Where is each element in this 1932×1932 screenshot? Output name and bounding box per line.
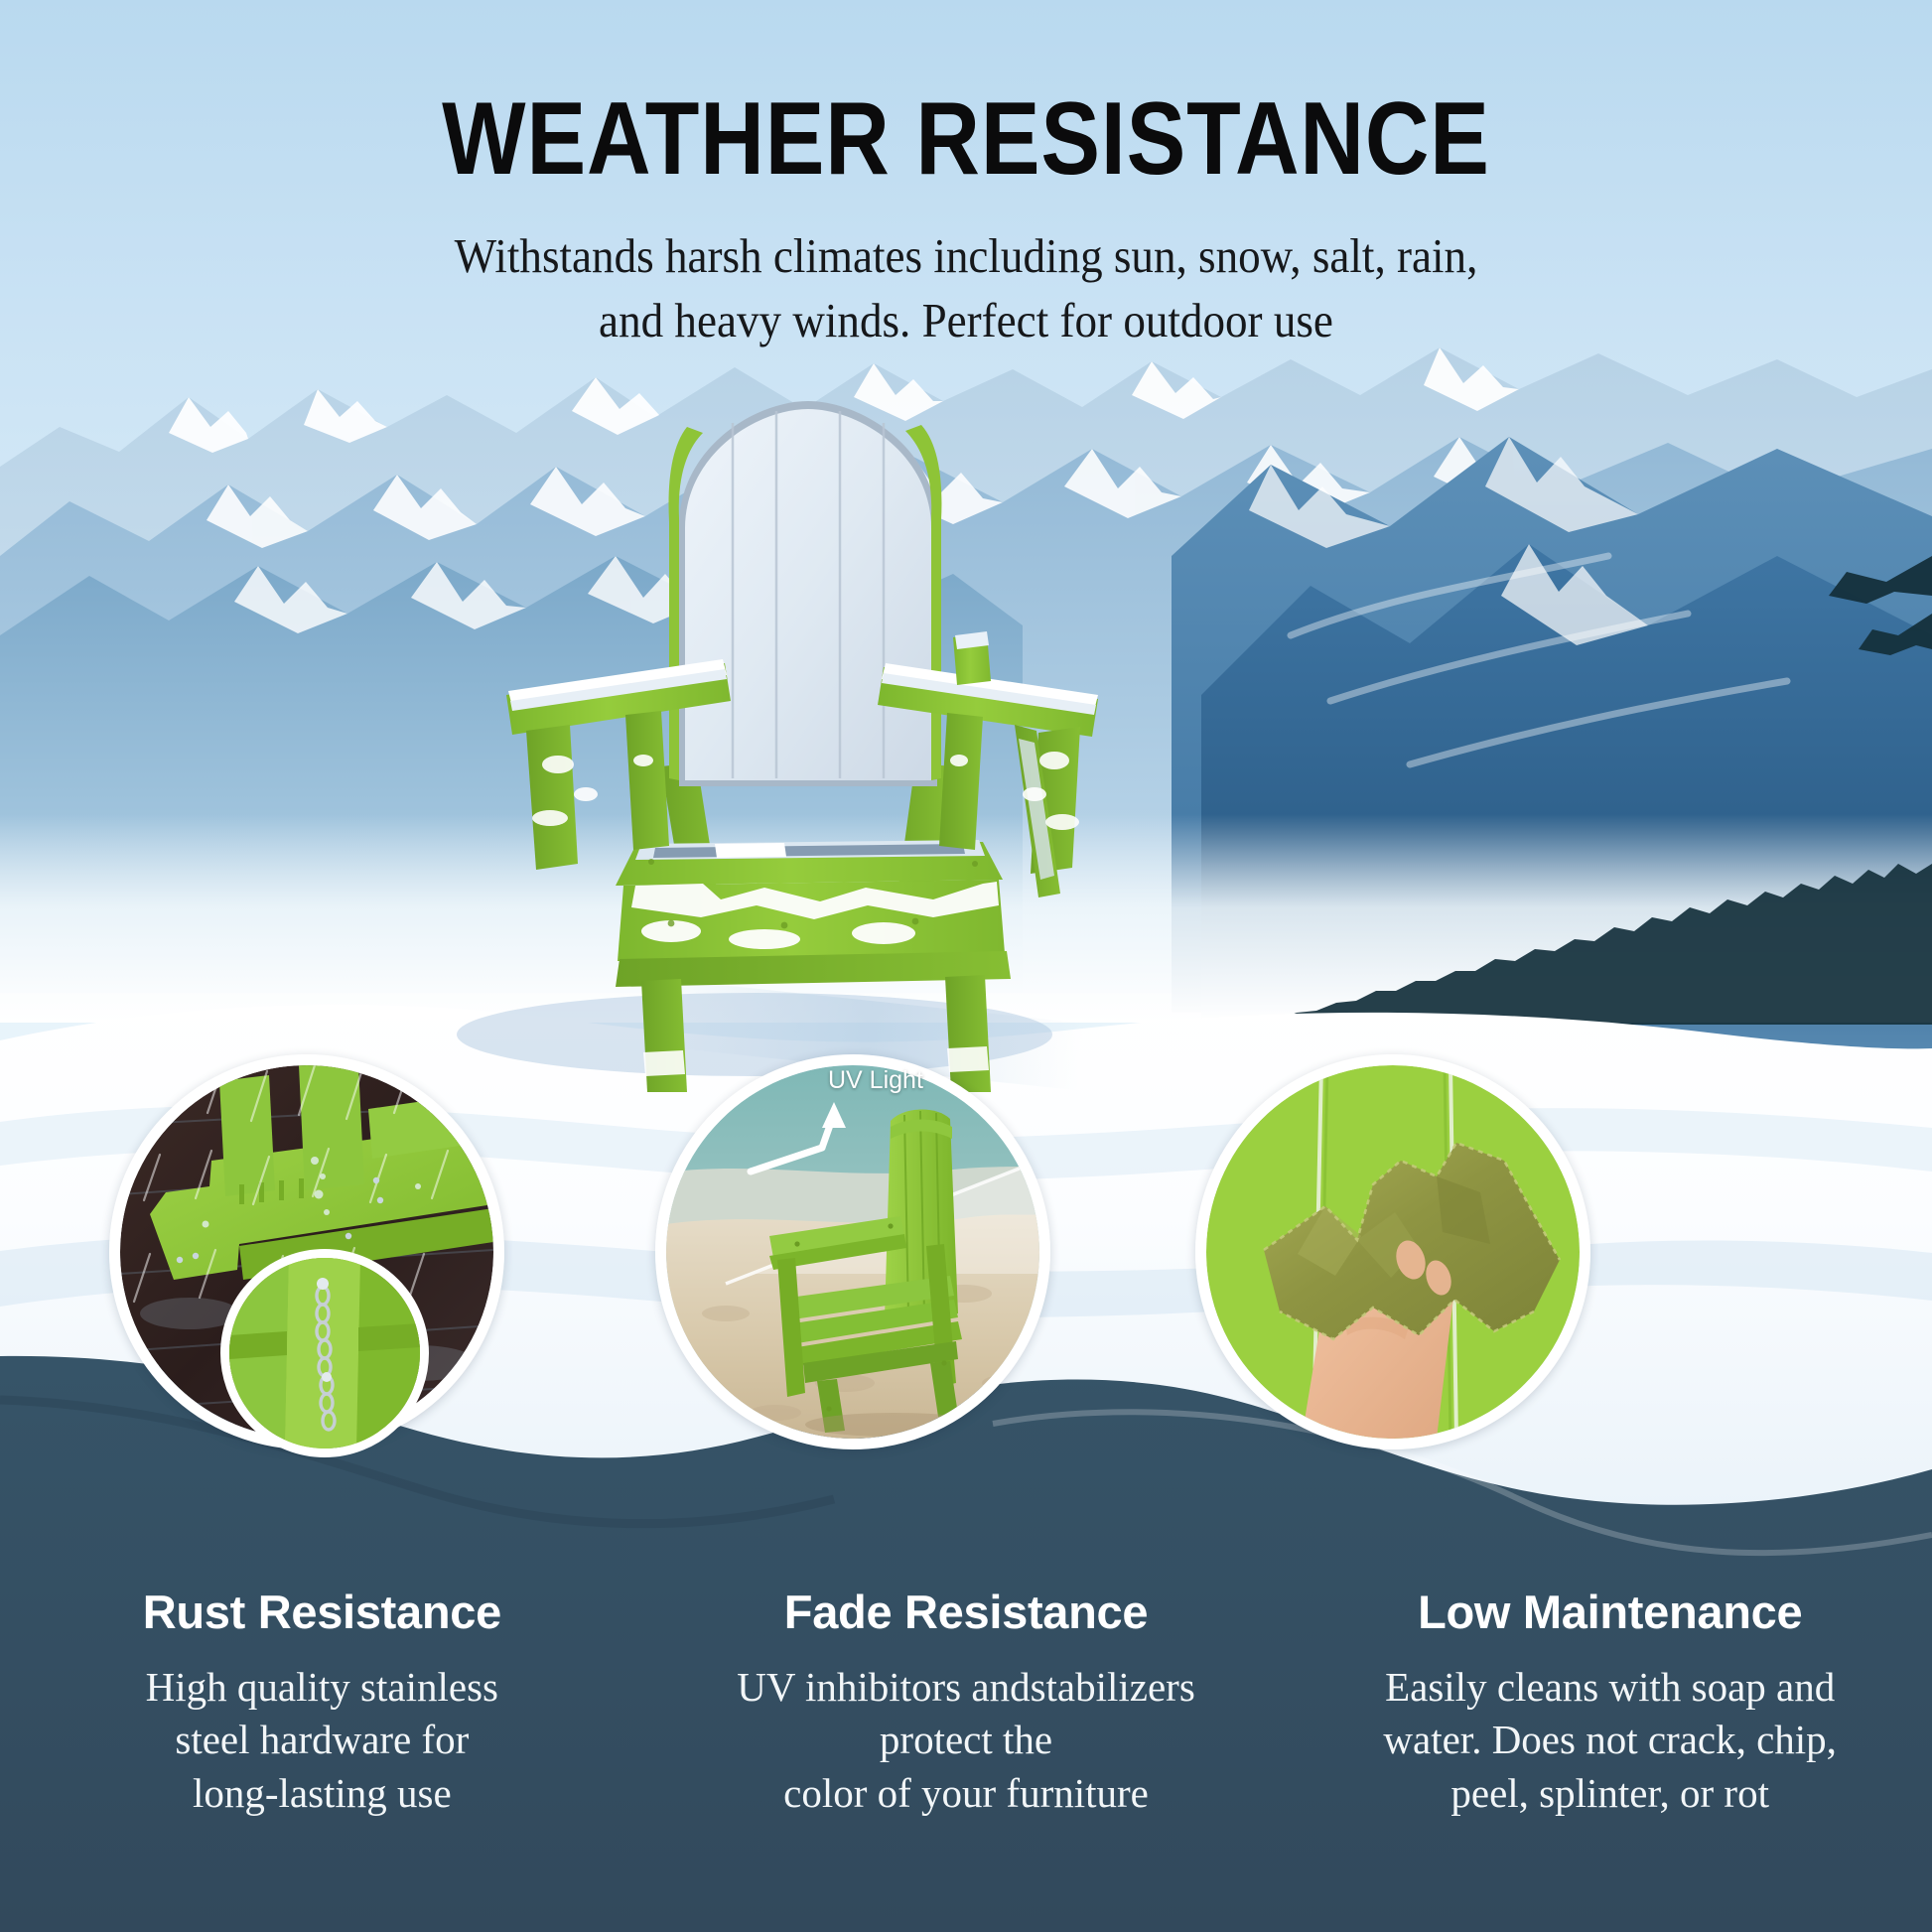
feature-body-fade-resistance: UV inhibitors andstabilizers protect the… [670,1661,1263,1820]
feature-body-line: long-lasting use [26,1767,619,1820]
feature-body-line: UV inhibitors andstabilizers [670,1661,1263,1714]
infographic-canvas: UV Light [0,0,1932,1932]
feature-body-line: High quality stainless [26,1661,619,1714]
feature-heading-fade-resistance: Fade Resistance [670,1588,1263,1635]
feature-image-fade-resistance [655,1054,1050,1449]
feature-rust-resistance: Rust Resistance High quality stainless s… [0,1588,644,1932]
feature-body-rust-resistance: High quality stainless steel hardware fo… [26,1661,619,1820]
feature-fade-resistance: Fade Resistance UV inhibitors andstabili… [644,1588,1289,1932]
feature-body-line: water. Does not crack, chip, [1313,1714,1906,1766]
feature-image-low-maintenance [1195,1054,1590,1449]
feature-body-low-maintenance: Easily cleans with soap and water. Does … [1313,1661,1906,1820]
feature-inset-stainless-chain [220,1249,429,1457]
feature-list: Rust Resistance High quality stainless s… [0,1588,1932,1932]
feature-heading-low-maintenance: Low Maintenance [1313,1588,1906,1635]
feature-body-line: Easily cleans with soap and [1313,1661,1906,1714]
feature-body-line: peel, splinter, or rot [1313,1767,1906,1820]
feature-low-maintenance: Low Maintenance Easily cleans with soap … [1288,1588,1932,1932]
feature-body-line: color of your furniture [670,1767,1263,1820]
feature-body-line: protect the [670,1714,1263,1766]
feature-heading-rust-resistance: Rust Resistance [26,1588,619,1635]
feature-body-line: steel hardware for [26,1714,619,1766]
